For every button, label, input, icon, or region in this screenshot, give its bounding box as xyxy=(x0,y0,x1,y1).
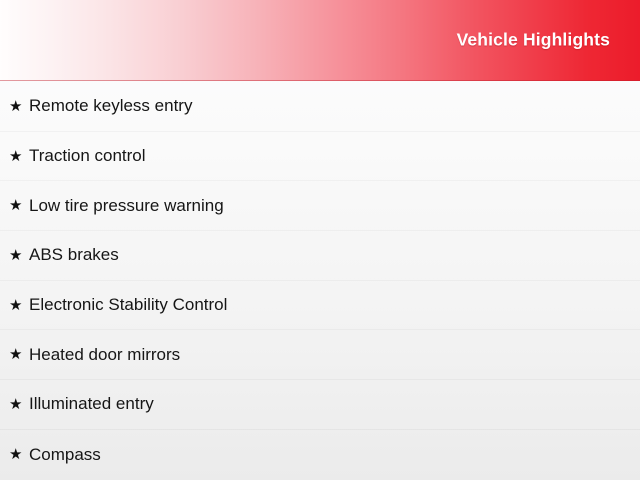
list-item: ★ ABS brakes xyxy=(0,231,640,281)
star-icon: ★ xyxy=(9,99,29,114)
list-item: ★ Illuminated entry xyxy=(0,380,640,430)
list-item: ★ Compass xyxy=(0,430,640,480)
list-item: ★ Remote keyless entry xyxy=(0,82,640,132)
list-item: ★ Heated door mirrors xyxy=(0,330,640,380)
vehicle-highlights-slide: Vehicle Highlights ★ Remote keyless entr… xyxy=(0,0,640,480)
highlight-label: Illuminated entry xyxy=(29,394,154,414)
page-title: Vehicle Highlights xyxy=(457,30,610,51)
list-item: ★ Low tire pressure warning xyxy=(0,181,640,231)
star-icon: ★ xyxy=(9,298,29,313)
highlight-label: Remote keyless entry xyxy=(29,96,192,116)
star-icon: ★ xyxy=(9,248,29,263)
star-icon: ★ xyxy=(9,447,29,462)
star-icon: ★ xyxy=(9,149,29,164)
highlight-label: Electronic Stability Control xyxy=(29,295,227,315)
highlight-label: ABS brakes xyxy=(29,245,119,265)
star-icon: ★ xyxy=(9,397,29,412)
star-icon: ★ xyxy=(9,198,29,213)
star-icon: ★ xyxy=(9,347,29,362)
highlight-label: Compass xyxy=(29,445,101,465)
list-item: ★ Electronic Stability Control xyxy=(0,281,640,331)
highlight-label: Heated door mirrors xyxy=(29,345,180,365)
highlight-label: Traction control xyxy=(29,146,146,166)
list-item: ★ Traction control xyxy=(0,132,640,182)
header-banner: Vehicle Highlights xyxy=(0,0,640,81)
highlight-label: Low tire pressure warning xyxy=(29,196,224,216)
highlights-list: ★ Remote keyless entry ★ Traction contro… xyxy=(0,82,640,480)
